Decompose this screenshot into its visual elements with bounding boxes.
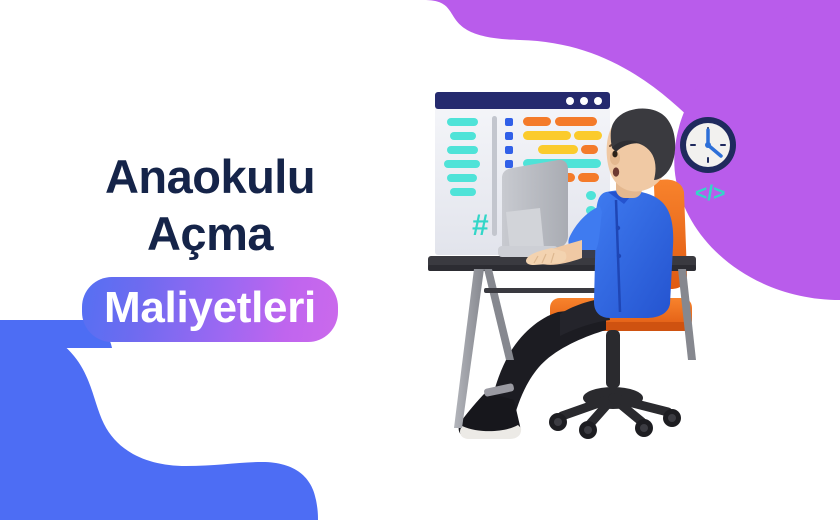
- highlight-badge: Maliyetleri: [82, 277, 338, 342]
- window-dot-2: [580, 97, 588, 105]
- window-dot-3: [594, 97, 602, 105]
- hash-icon: #: [472, 209, 489, 242]
- chair-base-legs: [562, 398, 668, 424]
- desk-leg-back: [484, 269, 514, 360]
- badge-wrapper: Maliyetleri: [0, 277, 420, 342]
- code-icon: </>: [695, 182, 725, 205]
- window-dot-1: [566, 97, 574, 105]
- monitor-stand: [506, 208, 544, 252]
- wall-clock-icon: [680, 117, 736, 173]
- illustration-developer-at-desk: # </>: [410, 60, 780, 460]
- person-eye: [612, 151, 617, 158]
- person-shirt: [594, 190, 673, 318]
- poster-canvas: Anaokulu Açma Maliyetleri: [0, 0, 840, 520]
- headline-line-1: Anaokulu: [0, 148, 420, 205]
- person-lower-body: [459, 298, 610, 439]
- headline: Anaokulu Açma: [0, 148, 420, 262]
- window-divider: [492, 116, 497, 236]
- chair-cylinder: [606, 330, 620, 388]
- blue-blob: [0, 330, 318, 520]
- headline-line-2: Açma: [0, 205, 420, 262]
- person-mouth: [613, 167, 619, 176]
